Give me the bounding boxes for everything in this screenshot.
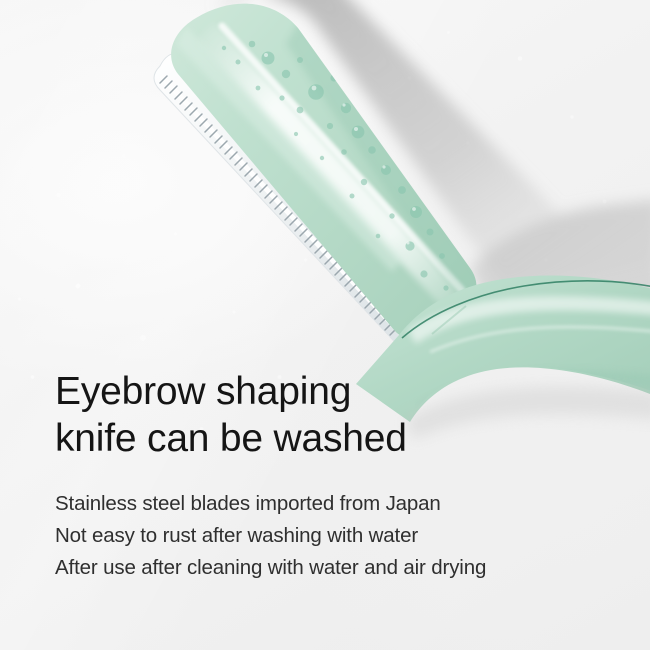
feature-item: Stainless steel blades imported from Jap… xyxy=(55,488,615,520)
product-marketing-image: Eyebrow shaping knife can be washed Stai… xyxy=(0,0,650,650)
feature-list: Stainless steel blades imported from Jap… xyxy=(55,488,615,584)
page-title: Eyebrow shaping knife can be washed xyxy=(55,368,615,462)
feature-item: Not easy to rust after washing with wate… xyxy=(55,520,615,552)
feature-item: After use after cleaning with water and … xyxy=(55,552,615,584)
copy-block: Eyebrow shaping knife can be washed Stai… xyxy=(55,368,615,584)
